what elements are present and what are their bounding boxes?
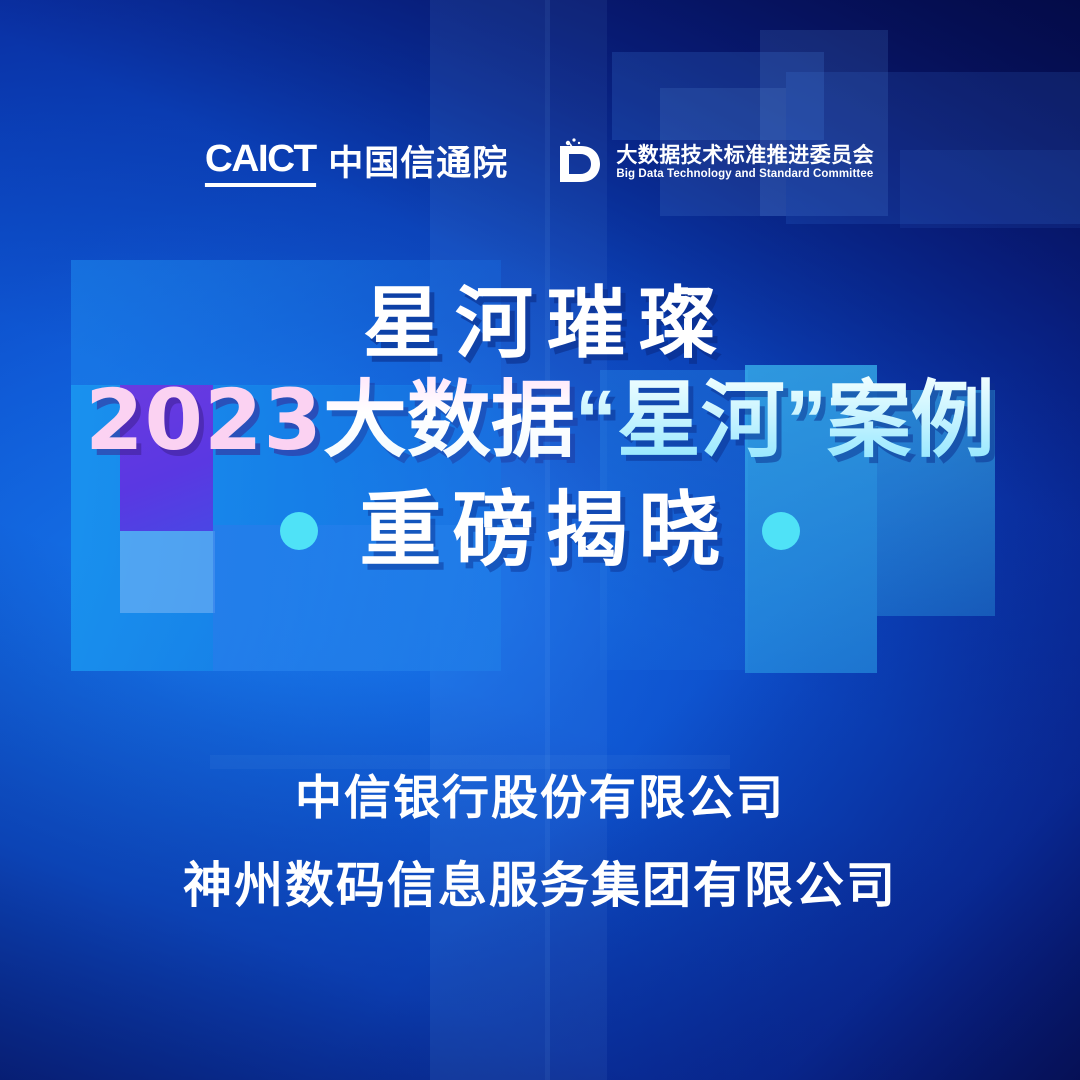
background-streak xyxy=(210,755,730,769)
headline-line-2-part-b: “星河”案例 xyxy=(575,373,995,467)
winner-name: 神州数码信息服务集团有限公司 xyxy=(173,860,907,914)
caict-chinese-name: 中国信通院 xyxy=(328,146,508,181)
winner-name: 中信银行股份有限公司 xyxy=(285,772,795,824)
cyan-dot-icon-left xyxy=(280,512,318,550)
headline-line-2: 2023大数据“星河”案例 xyxy=(0,376,1080,464)
headline-line-3-row: 重磅揭晓 xyxy=(0,490,1080,572)
poster-canvas: CAICT 中国信通院 大数据技术标准推进委员会 Big Data Techno… xyxy=(0,0,1080,1080)
bdtsc-english-name: Big Data Technology and Standard Committ… xyxy=(616,169,874,181)
logo-caict: CAICT 中国信通院 xyxy=(206,140,509,187)
headline-line-3: 重磅揭晓 xyxy=(348,490,731,572)
headline-group: 星河璀璨 2023大数据“星河”案例 重磅揭晓 xyxy=(0,284,1080,572)
bdtsc-text-block: 大数据技术标准推进委员会 Big Data Technology and Sta… xyxy=(616,145,874,181)
headline-line-1: 星河璀璨 xyxy=(0,284,1080,362)
header-logo-row: CAICT 中国信通院 大数据技术标准推进委员会 Big Data Techno… xyxy=(0,136,1080,190)
headline-line-2-part-a: 大数据 xyxy=(323,373,575,467)
headline-year: 2023 xyxy=(85,371,323,469)
bdtsc-chinese-name: 大数据技术标准推进委员会 xyxy=(616,145,874,166)
winner-list: 中信银行股份有限公司 神州数码信息服务集团有限公司 xyxy=(0,772,1080,914)
d-monogram-icon xyxy=(554,136,604,190)
cyan-dot-icon-right xyxy=(762,512,800,550)
caict-wordmark-icon: CAICT xyxy=(205,140,316,187)
logo-bdtsc: 大数据技术标准推进委员会 Big Data Technology and Sta… xyxy=(554,136,874,190)
